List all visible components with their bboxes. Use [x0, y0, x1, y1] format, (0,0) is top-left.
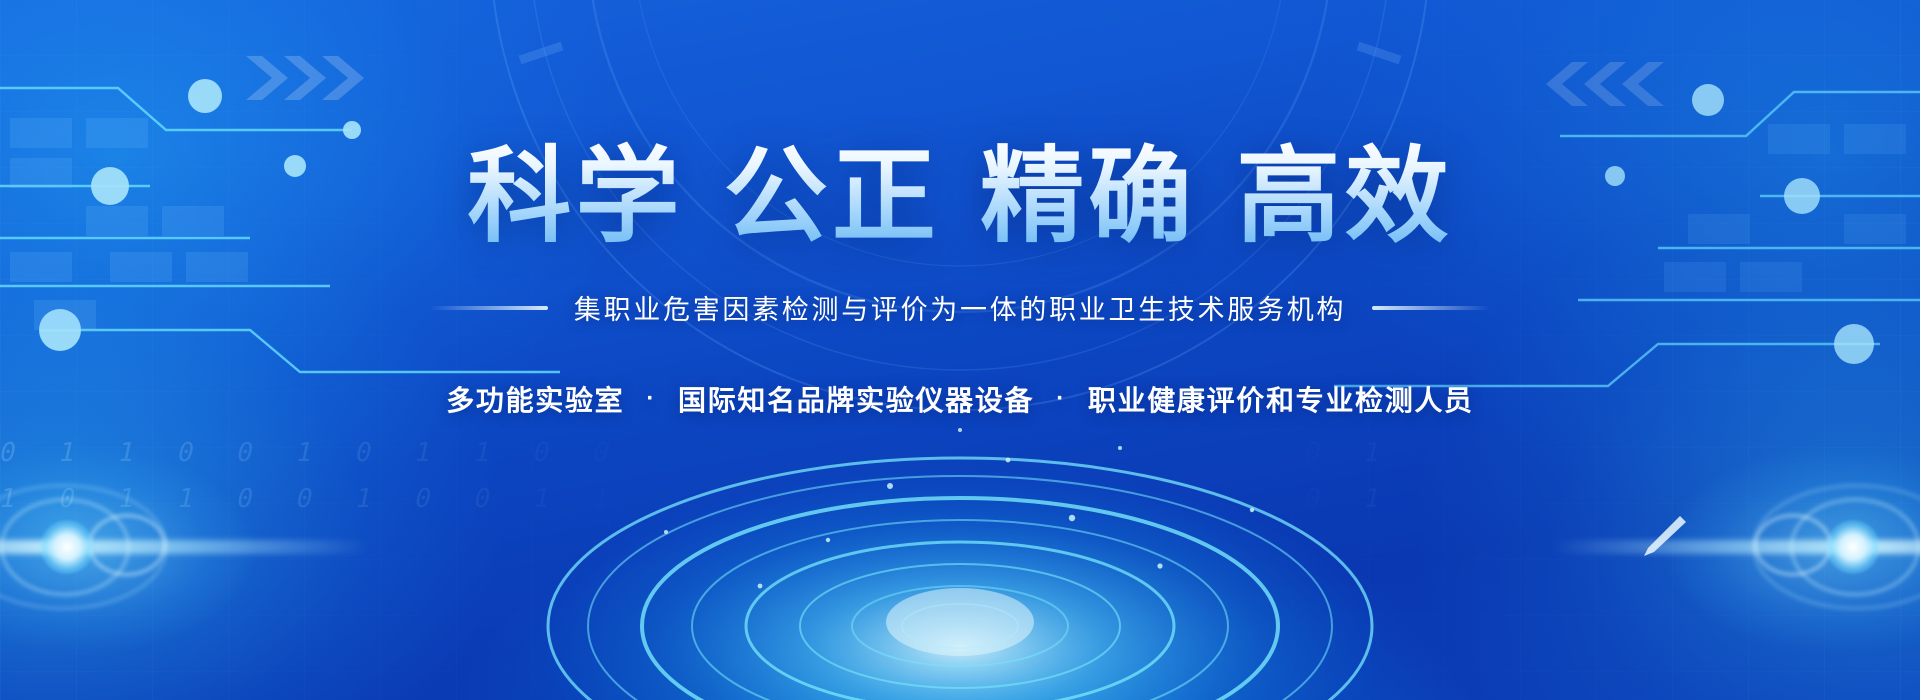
feature-separator: ·	[646, 385, 656, 413]
lens-flare-right	[1550, 470, 1920, 620]
lens-flare-left	[0, 470, 370, 620]
feature-tagline: 多功能实验室·国际知名品牌实验仪器设备·职业健康评价和专业检测人员	[0, 379, 1920, 419]
subtitle-rule-right	[1372, 306, 1490, 310]
headline-word-4: 高效	[1236, 139, 1452, 255]
flare-glow	[0, 450, 250, 650]
flare-halo-mid	[0, 498, 130, 596]
radar-rings-graphic	[460, 390, 1460, 700]
flare-halo-inner	[88, 514, 166, 576]
code-row: 0 1 1 0 0 1 0 1 1 0 0 1 1 0 1 0 0 1 1 0 …	[0, 430, 1920, 476]
flare-core	[40, 520, 94, 574]
subtitle-row: 集职业危害因素检测与评价为一体的职业卫生技术服务机构	[0, 288, 1920, 327]
flare-streak	[0, 540, 370, 554]
flare-halo-inner	[1754, 514, 1832, 576]
flare-halo-outer	[1752, 484, 1920, 610]
flare-glow	[1670, 450, 1920, 650]
flare-streak	[1550, 540, 1920, 554]
headline-word-2: 公正	[724, 139, 940, 255]
hero-banner: 0 1 1 0 0 1 0 1 1 0 0 1 1 0 1 0 0 1 1 0 …	[0, 0, 1920, 700]
subtitle-text: 集职业危害因素检测与评价为一体的职业卫生技术服务机构	[574, 288, 1346, 327]
subtitle-rule-left	[430, 306, 548, 310]
feature-item-1: 多功能实验室	[446, 385, 624, 416]
page-title: 科学公正精确高效	[0, 0, 1920, 252]
flare-halo-mid	[1790, 498, 1920, 596]
flare-core	[1826, 520, 1880, 574]
banner-content: 科学公正精确高效 集职业危害因素检测与评价为一体的职业卫生技术服务机构 多功能实…	[0, 0, 1920, 419]
feature-separator: ·	[1056, 385, 1066, 413]
code-row: 1 0 1 1 0 0 1 0 0 1 1 0 1 0 0 1 0 1 1 0 …	[0, 476, 1920, 522]
headline-word-1: 科学	[467, 139, 683, 255]
flare-halo-outer	[0, 484, 168, 610]
feature-item-3: 职业健康评价和专业检测人员	[1088, 385, 1474, 416]
code-texture: 0 1 1 0 0 1 0 1 1 0 0 1 1 0 1 0 0 1 1 0 …	[0, 430, 1920, 560]
feature-item-2: 国际知名品牌实验仪器设备	[678, 385, 1034, 416]
headline-word-3: 精确	[980, 139, 1196, 255]
